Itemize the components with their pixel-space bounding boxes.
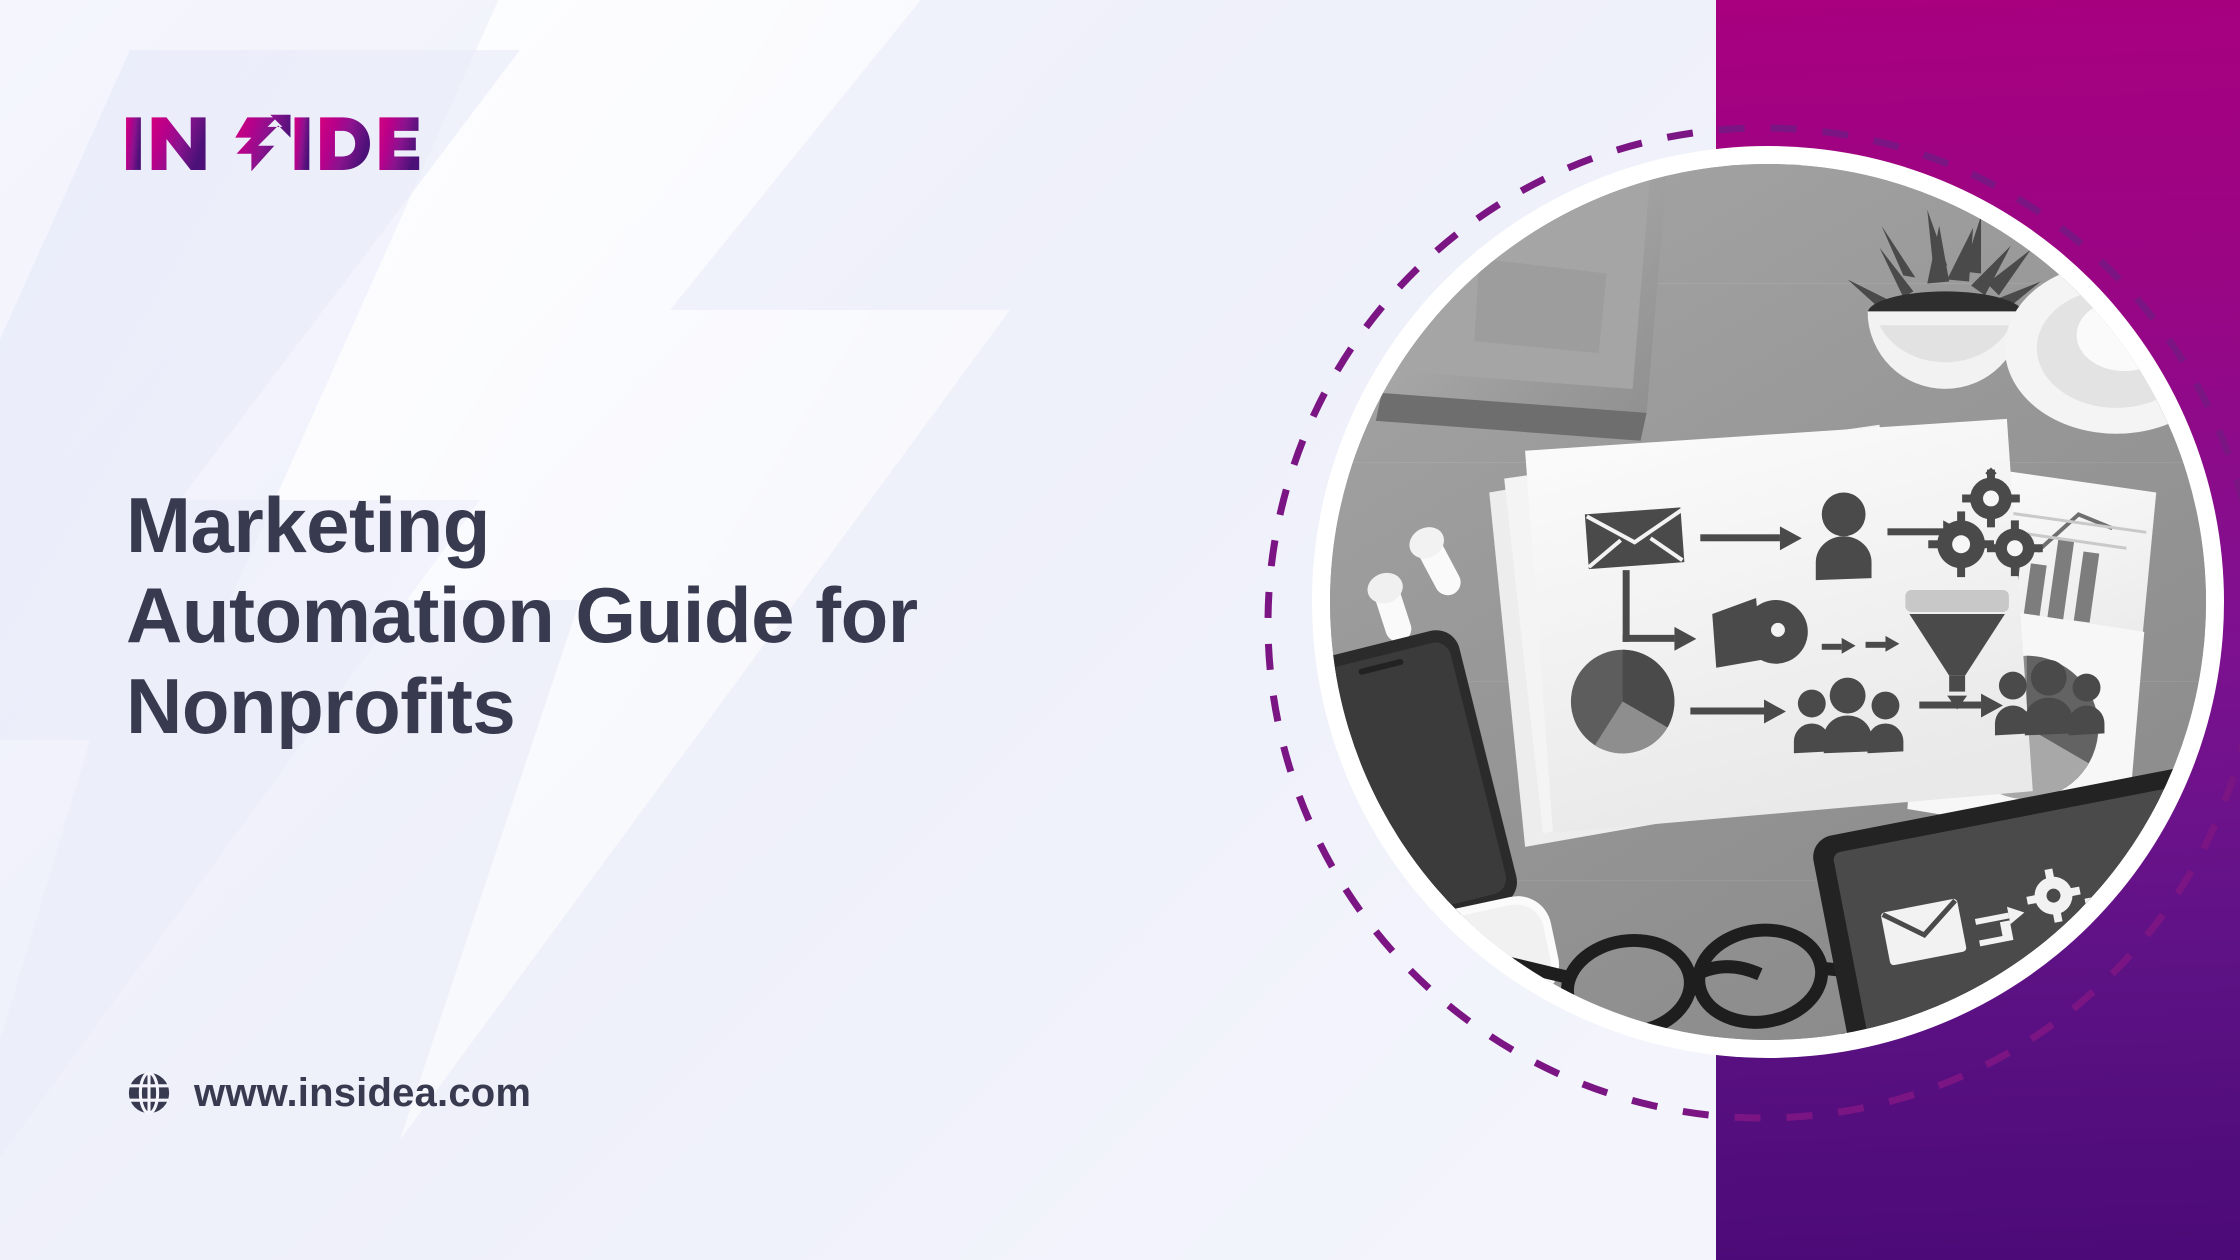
marketing-automation-desk-photo xyxy=(1330,164,2206,1040)
headline-line-2: Automation Guide for xyxy=(126,570,1166,660)
pie-chart-icon xyxy=(1571,650,1675,754)
website-footer[interactable]: www.insidea.com xyxy=(126,1070,531,1116)
page-title: Marketing Automation Guide for Nonprofit… xyxy=(126,480,1166,751)
website-url-label: www.insidea.com xyxy=(194,1071,531,1116)
insidea-logo[interactable] xyxy=(122,112,432,174)
headline-line-3: Nonprofits xyxy=(126,661,1166,751)
banner-canvas: Marketing Automation Guide for Nonprofit… xyxy=(0,0,2240,1260)
photo-circle-frame xyxy=(1312,146,2224,1058)
globe-icon xyxy=(126,1070,172,1116)
headline-line-1: Marketing xyxy=(126,480,1166,570)
envelope-icon xyxy=(1585,507,1685,569)
